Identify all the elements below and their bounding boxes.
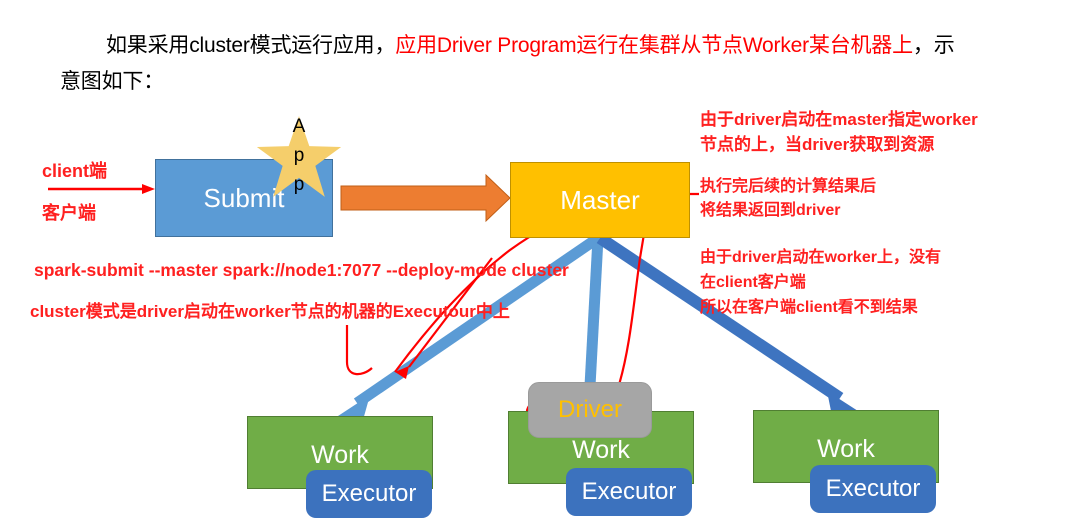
- app-letter-3: p: [294, 170, 305, 199]
- app-star-icon: A p p: [256, 116, 342, 202]
- executor-node-label: Executor: [826, 475, 921, 503]
- annotation-cluster-mode-note: cluster模式是driver启动在worker节点的机器的Executour…: [30, 297, 510, 322]
- executor-node-left[interactable]: Executor: [306, 470, 432, 518]
- client-to-submit-arrow: [48, 184, 155, 194]
- annotation-result-return: 执行完后续的计算结果后 将结果返回到driver: [700, 175, 876, 223]
- client-label-en: client端: [42, 157, 107, 183]
- app-letter-1: A: [293, 112, 306, 141]
- driver-node[interactable]: Driver: [528, 382, 652, 438]
- annotation-driver-launch: 由于driver启动在master指定worker 节点的上，当driver获取…: [700, 107, 978, 157]
- master-node[interactable]: Master: [510, 162, 690, 238]
- master-node-label: Master: [560, 185, 639, 216]
- worker-node-label: Work: [817, 435, 875, 464]
- app-letter-2: p: [294, 141, 305, 170]
- submit-to-master-arrow: [341, 175, 510, 221]
- client-label-cn: 客户端: [42, 199, 96, 225]
- app-star-letters: A p p: [256, 112, 342, 199]
- annotation-client-no-result: 由于driver启动在worker上，没有 在client客户端 所以在客户端c…: [700, 245, 941, 320]
- worker-node-label: Work: [572, 436, 630, 465]
- executor-node-middle[interactable]: Executor: [566, 468, 692, 516]
- executor-node-right[interactable]: Executor: [810, 465, 936, 513]
- cluster-mode-diagram: client端 客户端 Submit A p p Master Work Exe…: [0, 0, 1077, 531]
- master-to-driver-arrow: [590, 238, 598, 386]
- executor-node-label: Executor: [322, 480, 417, 508]
- mode-note-red-hook: [347, 325, 372, 374]
- driver-node-label: Driver: [558, 396, 622, 424]
- annotation-spark-submit-command: spark-submit --master spark://node1:7077…: [34, 260, 569, 281]
- worker-node-label: Work: [311, 441, 369, 470]
- executor-node-label: Executor: [582, 478, 677, 506]
